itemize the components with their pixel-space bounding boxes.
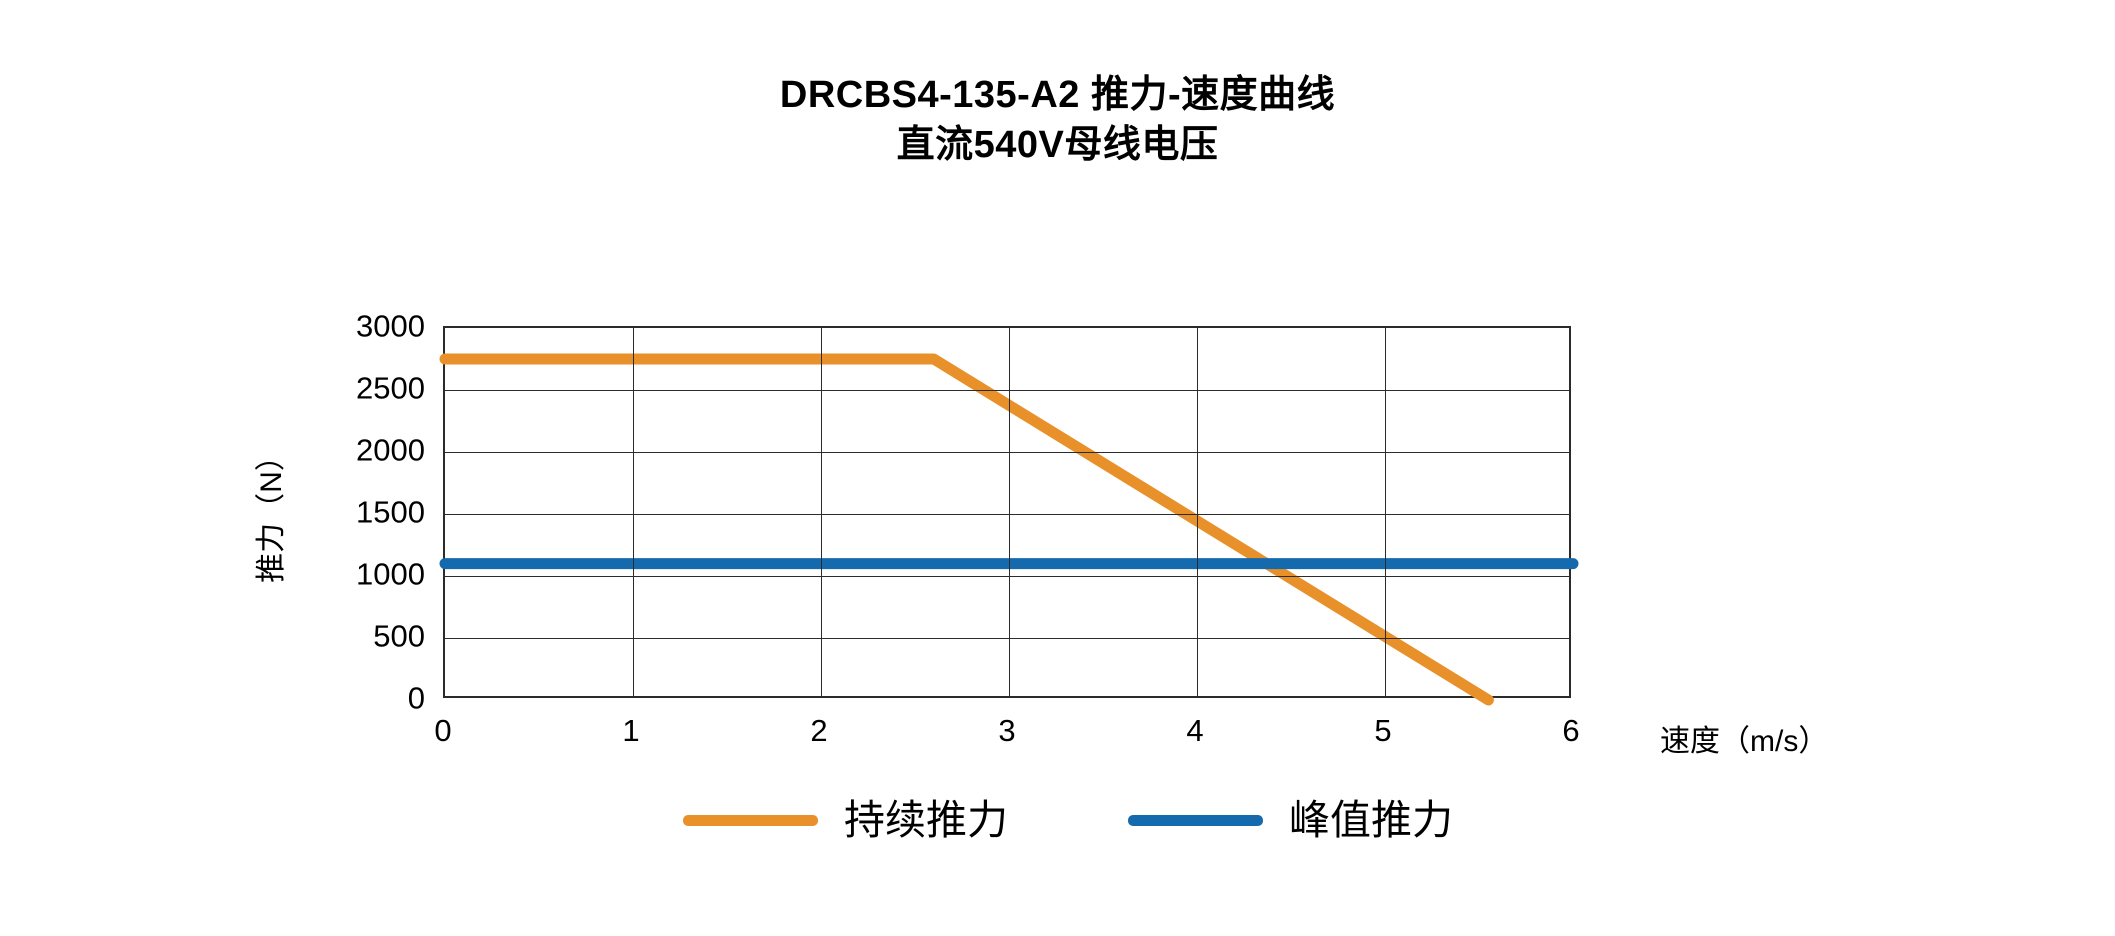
chart-title-line-2: 直流540V母线电压 [0, 120, 2115, 170]
x-tick-label: 5 [1343, 715, 1423, 746]
x-axis-tick-labels: 0123456 [443, 715, 1571, 759]
gridline-vertical [1385, 328, 1386, 696]
gridline-horizontal [445, 452, 1569, 453]
legend-item: 持续推力 [683, 800, 1008, 841]
y-axis-tick-labels: 050010001500200025003000 [285, 326, 425, 698]
thrust-speed-chart-figure: DRCBS4-135-A2 推力-速度曲线 直流540V母线电压 0500100… [0, 0, 2115, 936]
gridline-vertical [1197, 328, 1198, 696]
x-tick-label: 3 [967, 715, 1047, 746]
legend-item: 峰值推力 [1128, 800, 1453, 841]
y-tick-label: 500 [295, 621, 425, 652]
y-tick-label: 3000 [295, 311, 425, 342]
legend-swatch-icon [1128, 815, 1263, 826]
gridline-horizontal [445, 576, 1569, 577]
y-axis-title: 推力（N） [246, 441, 290, 583]
x-tick-label: 4 [1155, 715, 1235, 746]
gridline-vertical [633, 328, 634, 696]
x-axis-title: 速度（m/s） [1660, 716, 1828, 760]
series-line [445, 359, 1488, 700]
x-tick-label: 2 [779, 715, 859, 746]
y-tick-label: 1000 [295, 559, 425, 590]
y-tick-label: 1500 [295, 497, 425, 528]
chart-title: DRCBS4-135-A2 推力-速度曲线 直流540V母线电压 [0, 70, 2115, 170]
y-tick-label: 2000 [295, 435, 425, 466]
x-tick-label: 0 [403, 715, 483, 746]
y-tick-label: 0 [295, 683, 425, 714]
gridline-horizontal [445, 514, 1569, 515]
x-tick-label: 1 [591, 715, 671, 746]
gridline-vertical [1009, 328, 1010, 696]
gridline-vertical [821, 328, 822, 696]
plot-area [443, 326, 1571, 698]
chart-legend: 持续推力峰值推力 [443, 800, 1693, 841]
gridline-horizontal [445, 638, 1569, 639]
gridline-horizontal [445, 390, 1569, 391]
chart-title-line-1: DRCBS4-135-A2 推力-速度曲线 [0, 70, 2115, 120]
legend-label: 峰值推力 [1289, 800, 1453, 841]
legend-swatch-icon [683, 815, 818, 826]
x-tick-label: 6 [1531, 715, 1611, 746]
legend-label: 持续推力 [844, 800, 1008, 841]
y-tick-label: 2500 [295, 373, 425, 404]
